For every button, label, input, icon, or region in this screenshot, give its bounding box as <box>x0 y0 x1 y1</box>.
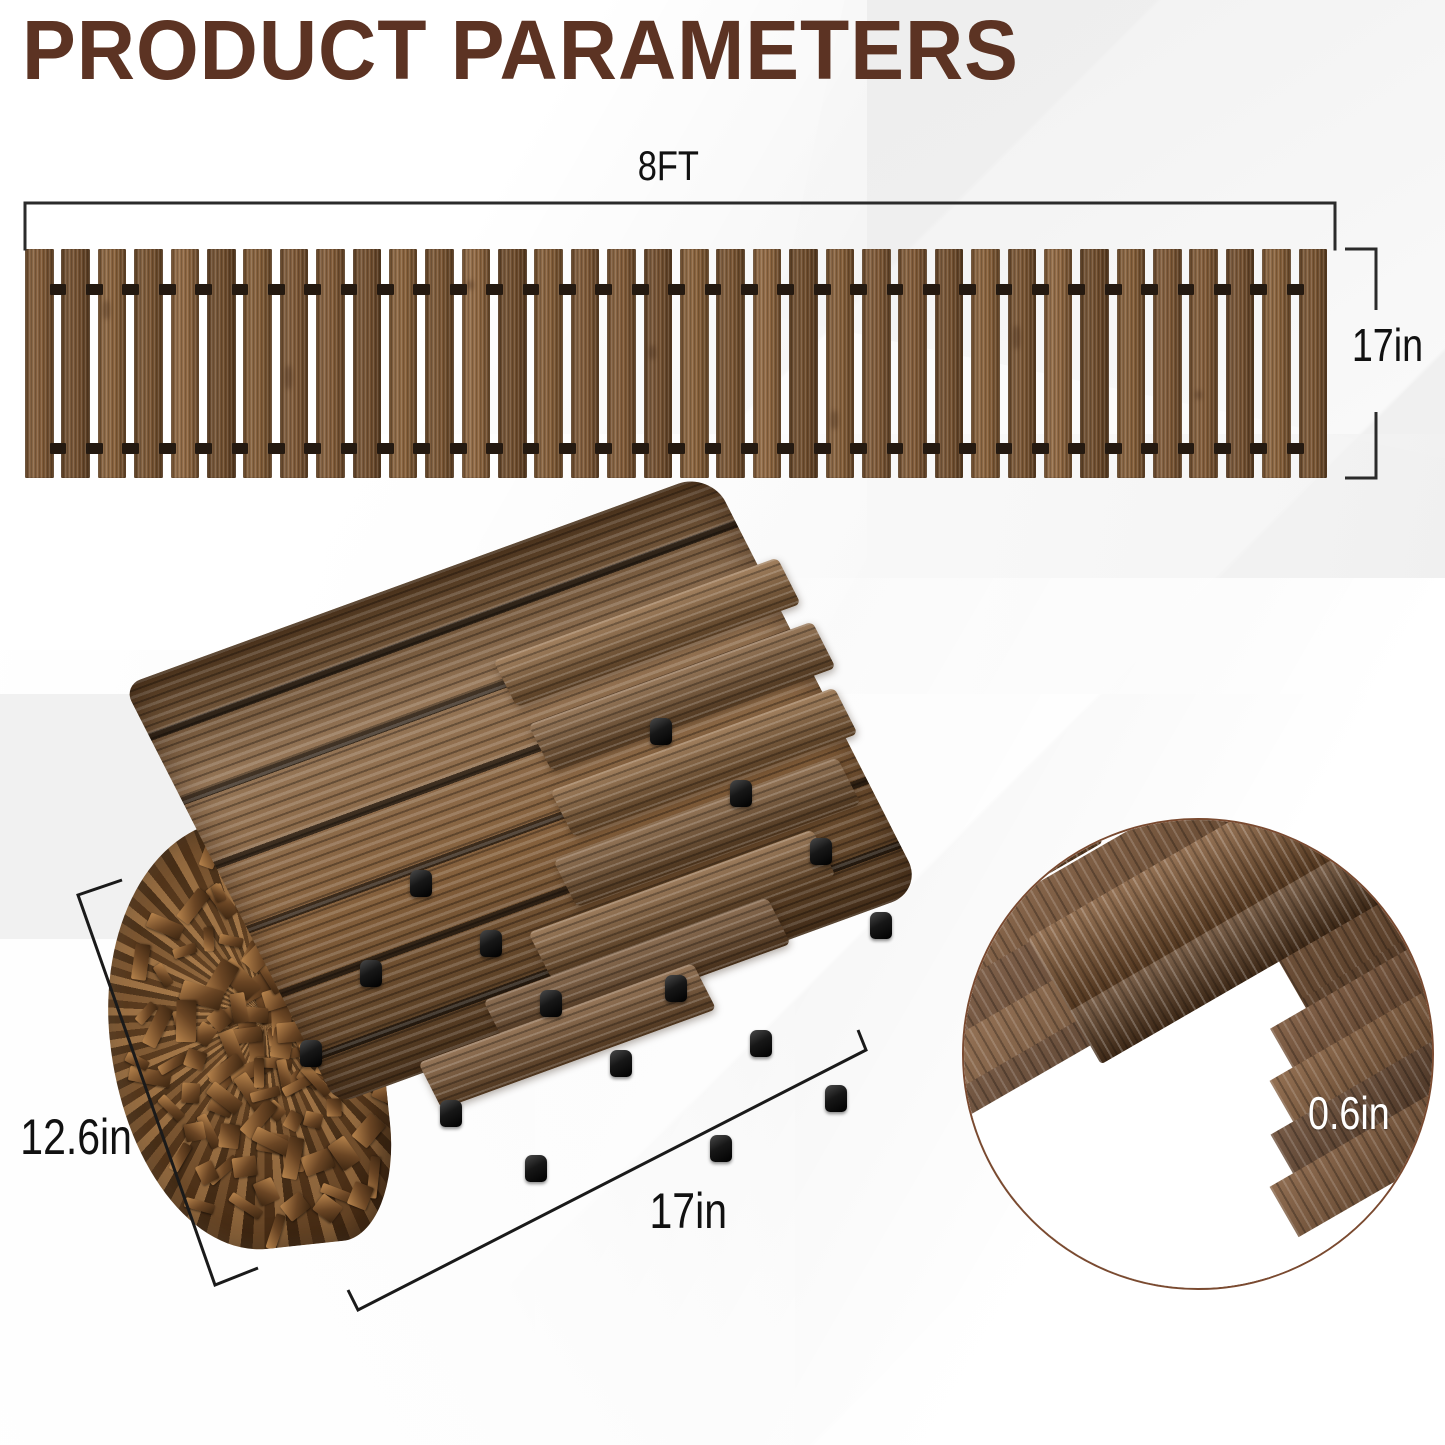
label-8ft: 8FT <box>638 142 699 190</box>
slat-end-chip <box>181 1082 200 1103</box>
slat-connector <box>777 284 794 295</box>
slat-end-chip <box>175 1000 196 1042</box>
rubber-spacer <box>360 960 382 987</box>
wood-knot <box>467 280 474 290</box>
slat-connector <box>814 284 831 295</box>
slat-connector <box>486 284 503 295</box>
rubber-spacer <box>410 870 432 897</box>
slat-connector <box>923 443 940 454</box>
slat-connector <box>50 443 67 454</box>
slat-end-chip <box>176 887 210 925</box>
slat-connector <box>559 284 576 295</box>
slat-connector <box>377 284 394 295</box>
slat-connector <box>705 284 722 295</box>
label-17in-roll-length: 17in <box>650 1182 728 1240</box>
slat-connector <box>195 284 212 295</box>
rubber-spacer <box>825 1085 847 1112</box>
wood-knot <box>103 300 110 320</box>
slat-connector <box>814 443 831 454</box>
slat-end-chip <box>172 942 198 959</box>
slat-end-chip <box>183 1048 208 1072</box>
rubber-spacer <box>540 990 562 1017</box>
slat-connector <box>450 443 467 454</box>
flat-mat-illustration <box>25 249 1335 478</box>
slat-connector <box>268 284 285 295</box>
slat-connector <box>1178 443 1195 454</box>
slat-end-chip <box>254 1058 264 1088</box>
wood-knot <box>1195 390 1202 400</box>
slat-end-chip <box>153 962 174 988</box>
slat-connector <box>159 284 176 295</box>
slat-connector <box>377 443 394 454</box>
slat-connector <box>595 284 612 295</box>
rubber-spacer <box>810 838 832 865</box>
slat-end-chip <box>231 1155 258 1178</box>
product-parameters-infographic: PRODUCT PARAMETERS <box>0 0 1445 1445</box>
slat-connector <box>1068 284 1085 295</box>
slat-connector <box>705 443 722 454</box>
slat-connector <box>1068 443 1085 454</box>
wood-knot <box>831 410 838 430</box>
slat-connector <box>413 284 430 295</box>
rubber-spacer <box>440 1100 462 1127</box>
slat-connector <box>523 284 540 295</box>
rubber-spacer <box>665 975 687 1002</box>
slat-connector <box>341 284 358 295</box>
slat-connector <box>959 443 976 454</box>
slat-connector <box>523 443 540 454</box>
rubber-spacer <box>710 1135 732 1162</box>
slat-connector <box>632 443 649 454</box>
rubber-spacer <box>610 1050 632 1077</box>
rolled-mat-illustration <box>110 630 880 1310</box>
slat-connector <box>887 284 904 295</box>
slat-connector <box>268 443 285 454</box>
slat-connector <box>559 443 576 454</box>
slat-connector <box>1178 284 1195 295</box>
label-0-6in-slat-thickness: 0.6in <box>1308 1086 1390 1140</box>
slat-connector <box>632 284 649 295</box>
slat-connector <box>1032 443 1049 454</box>
slat-connector <box>159 443 176 454</box>
slat-connector <box>996 284 1013 295</box>
slat-connector <box>232 284 249 295</box>
slat-end-chip <box>327 1098 342 1116</box>
slat-connector <box>1105 284 1122 295</box>
slat-connector <box>668 443 685 454</box>
slat-connector <box>850 443 867 454</box>
slat-end-chip <box>184 1197 216 1214</box>
slat-connector <box>86 443 103 454</box>
slat-connector <box>1141 443 1158 454</box>
rubber-spacer <box>480 930 502 957</box>
slat-end-chip <box>219 934 245 949</box>
slat-connector <box>195 443 212 454</box>
slat-connector <box>1287 284 1304 295</box>
slat-connector <box>668 284 685 295</box>
slat-connector <box>1214 443 1231 454</box>
rubber-spacer <box>525 1155 547 1182</box>
rubber-spacer <box>730 780 752 807</box>
slat-end-chip <box>130 943 150 981</box>
slat-connector <box>741 284 758 295</box>
slat-connector <box>923 284 940 295</box>
slat-end-chip <box>183 1121 206 1142</box>
slat-end-chip <box>351 1113 386 1149</box>
slat-connector <box>1287 443 1304 454</box>
slat-connector <box>741 443 758 454</box>
slat-end-chip <box>303 1111 324 1130</box>
slat-connector <box>887 443 904 454</box>
slat-connector <box>304 443 321 454</box>
slat-connector <box>1032 284 1049 295</box>
slat-connector <box>86 284 103 295</box>
slat-connector <box>777 443 794 454</box>
rubber-spacer <box>750 1030 772 1057</box>
slat-connector <box>996 443 1013 454</box>
slat-connector <box>486 443 503 454</box>
slat-connector <box>1250 443 1267 454</box>
rubber-spacer <box>650 718 672 745</box>
slat-connector <box>1250 284 1267 295</box>
rubber-spacer <box>300 1040 322 1067</box>
wood-knot <box>1013 325 1020 350</box>
slat-connector <box>1141 284 1158 295</box>
slat-end-chip <box>265 1213 286 1250</box>
label-17in-width: 17in <box>1352 318 1423 372</box>
slat-connector <box>50 284 67 295</box>
slat-end-chip <box>203 927 214 951</box>
slat-end-chip <box>300 1147 335 1176</box>
slat-connector <box>413 443 430 454</box>
rubber-spacer <box>870 912 892 939</box>
slat-connector <box>122 284 139 295</box>
slat-connector <box>450 284 467 295</box>
slat-connector <box>341 443 358 454</box>
slat-connector <box>232 443 249 454</box>
slat-connector <box>122 443 139 454</box>
slat-connector <box>304 284 321 295</box>
label-12-6in-diameter: 12.6in <box>20 1108 132 1166</box>
page-title: PRODUCT PARAMETERS <box>22 8 1019 92</box>
slat-connector <box>595 443 612 454</box>
slat-end-chip <box>218 1123 241 1149</box>
slat-connector <box>959 284 976 295</box>
wood-knot <box>285 365 292 390</box>
slat-connector <box>850 284 867 295</box>
wood-knot <box>649 345 656 360</box>
slat-connector <box>1214 284 1231 295</box>
slat-end-chip <box>169 1142 193 1173</box>
slat-connector <box>1105 443 1122 454</box>
slat-end-chip <box>253 1176 281 1206</box>
detail-inset-circle <box>962 818 1434 1290</box>
